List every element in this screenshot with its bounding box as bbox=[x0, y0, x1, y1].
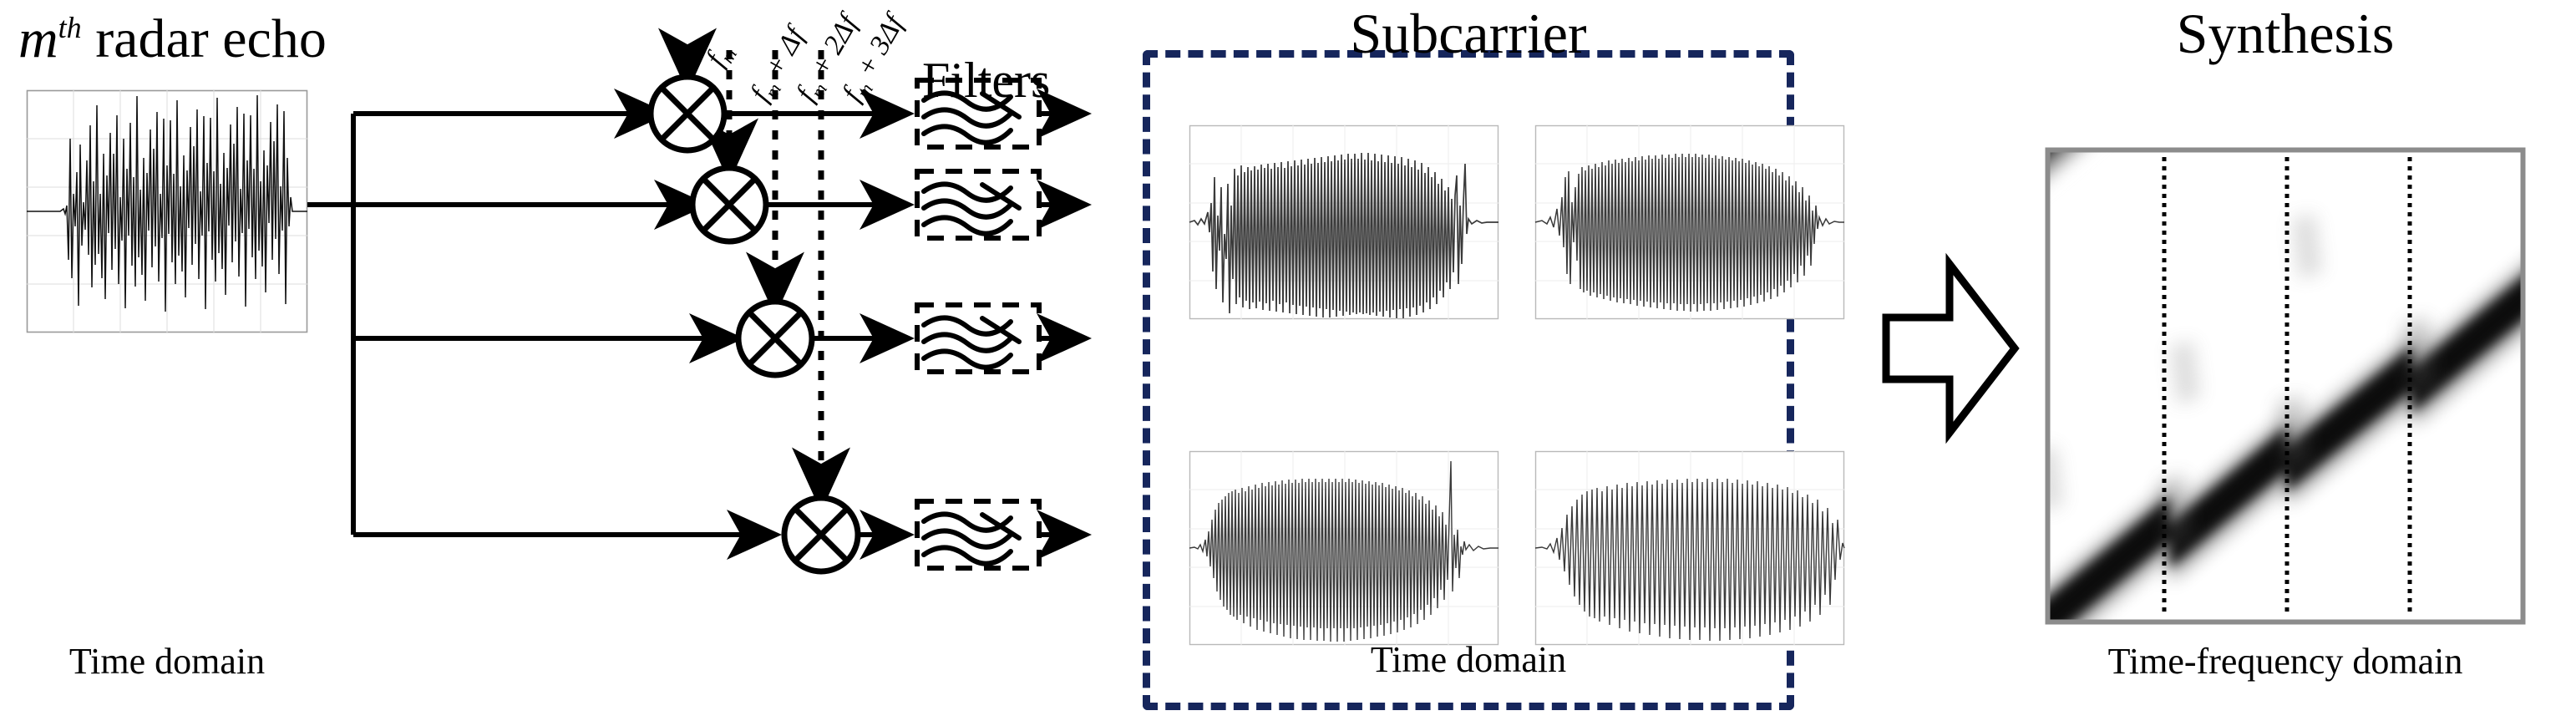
filter-blocks bbox=[917, 80, 1084, 568]
filter-block-3 bbox=[917, 305, 1084, 372]
left-title-superscript: th bbox=[58, 11, 82, 44]
mixer-group bbox=[651, 77, 858, 571]
subcarrier-panel-title: Subcarrier bbox=[1143, 5, 1794, 62]
subcarrier-panel-caption: Time domain bbox=[1143, 642, 1794, 678]
filter-block-2 bbox=[917, 171, 1084, 238]
subcarrier-plot-1 bbox=[1189, 125, 1498, 319]
subcarrier-plot-2 bbox=[1535, 125, 1844, 319]
subcarrier-plot-3 bbox=[1189, 451, 1498, 645]
filters-label: Filters bbox=[922, 55, 1050, 105]
mixer-3 bbox=[738, 302, 812, 375]
left-title-italic-m: m bbox=[18, 8, 58, 69]
synthesis-panel-title: Synthesis bbox=[2035, 5, 2536, 62]
mixer-4 bbox=[784, 498, 858, 571]
time-frequency-spectrogram bbox=[2045, 147, 2526, 625]
left-title-rest: radar echo bbox=[82, 8, 327, 69]
block-arrow-right-icon bbox=[1881, 252, 2020, 444]
subcarrier-plot-4 bbox=[1535, 451, 1844, 645]
left-panel-caption: Time domain bbox=[27, 643, 307, 680]
mixer-1 bbox=[651, 77, 724, 150]
radar-echo-plot bbox=[27, 90, 307, 333]
synthesis-panel-caption: Time-frequency domain bbox=[2001, 643, 2569, 680]
mixer-2 bbox=[692, 168, 766, 241]
filter-block-4 bbox=[917, 501, 1084, 568]
left-panel-title: mth radar echo bbox=[18, 12, 327, 67]
